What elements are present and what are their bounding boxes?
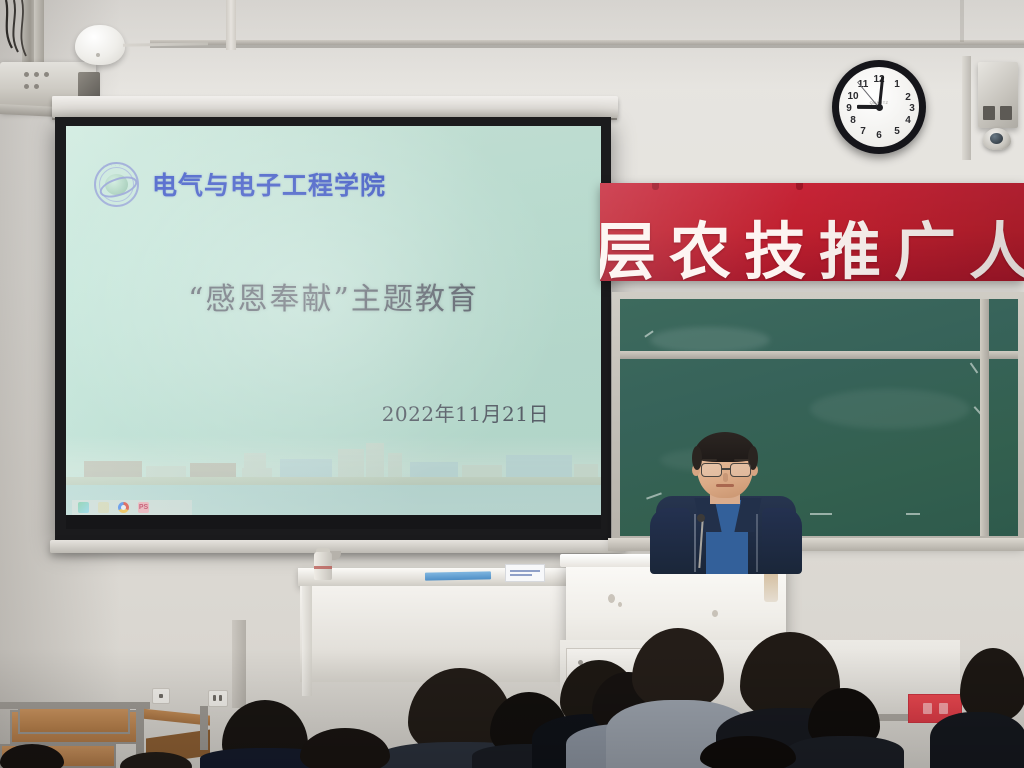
clock-number: 7: [856, 127, 870, 137]
ceiling-conduit-shadow: [150, 45, 1024, 48]
wall-clock: QUARTZ 12 1 2 3 4 5 6 7 8 9 10 11: [832, 60, 926, 154]
wall-seam: [226, 0, 236, 50]
projector-cables: [0, 0, 44, 66]
wall-post: [962, 56, 971, 160]
glasses-icon: [701, 463, 722, 477]
presenter-jacket-seam-left: [694, 514, 696, 572]
blackboard-divider-horizontal: [620, 351, 1018, 359]
projection-screen[interactable]: · · · · · · 电气与电子工程学院 “感恩奉献”主题教育 2022年11…: [55, 117, 611, 542]
screen-bottom-bar: [66, 515, 601, 529]
lectern-wear-mark: [764, 572, 778, 602]
lecture-hall-photo: MITSUBISHI · · · · · · 电气与电子工程学院 “感恩奉献”主…: [0, 0, 1024, 768]
podium-microphone: [697, 514, 705, 522]
presenter-mouth: [716, 484, 734, 487]
presenter-hair: [694, 432, 756, 462]
projection-screen-housing: MITSUBISHI: [52, 96, 618, 118]
glasses-icon: [730, 463, 751, 477]
slide-canvas[interactable]: · · · · · · 电气与电子工程学院 “感恩奉献”主题教育 2022年11…: [66, 126, 601, 529]
thermos-band: [314, 566, 332, 569]
wifi-access-point: [75, 25, 125, 65]
clock-face: QUARTZ 12 1 2 3 4 5 6 7 8 9 10 11: [839, 67, 919, 147]
presenter-shoulder-right: [762, 508, 802, 574]
camera-lens-icon: [990, 133, 1003, 144]
clock-number: 2: [901, 93, 915, 103]
presenter-jacket-seam-right: [756, 514, 758, 572]
presenter-nose: [723, 473, 728, 482]
clock-number: 3: [905, 104, 919, 114]
clock-number: 1: [890, 80, 904, 90]
blue-folder: [425, 571, 491, 580]
glasses-bridge: [722, 468, 730, 470]
screen-glare: [66, 126, 601, 529]
access-point-led: [96, 53, 100, 57]
presenter: [650, 430, 802, 570]
clock-number: 6: [872, 131, 886, 141]
blackboard-divider-vertical: [980, 299, 989, 536]
name-card: [505, 564, 545, 582]
clock-number: 8: [846, 116, 860, 126]
clock-number: 5: [890, 127, 904, 137]
clock-center-pin: [876, 104, 883, 111]
wall-seam-right: [960, 0, 964, 42]
clock-number: 10: [846, 92, 860, 102]
wall-control-box[interactable]: [978, 62, 1018, 128]
foreground-shadow: [0, 648, 1024, 768]
clock-number: 4: [901, 116, 915, 126]
red-banner: 层农技推广人: [600, 183, 1024, 281]
clock-number: 9: [842, 104, 856, 114]
presenter-shoulder-left: [650, 508, 690, 574]
